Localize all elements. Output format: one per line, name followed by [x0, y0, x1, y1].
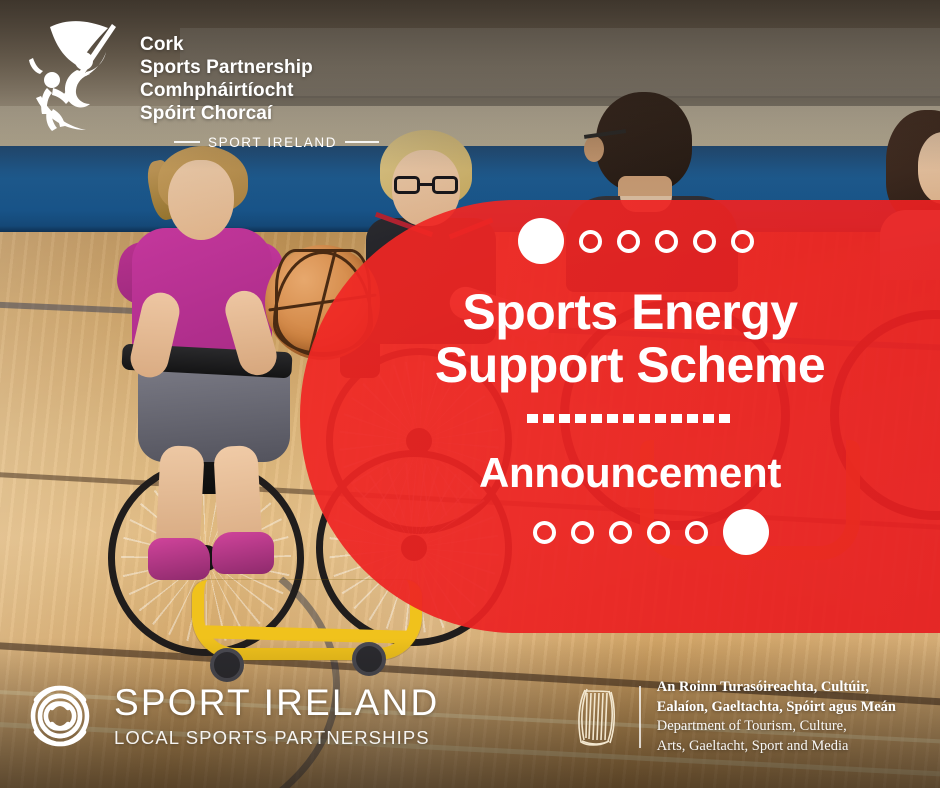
irish-harp-icon [573, 684, 623, 750]
department-text: An Roinn Turasóireachta, Cultúir, Ealaío… [657, 678, 896, 756]
dot-filled-icon [518, 218, 564, 264]
sport-ireland-title: SPORT IRELAND [114, 684, 439, 721]
announcement-subline: Announcement [479, 449, 781, 497]
headline: Sports Energy Support Scheme [435, 286, 825, 392]
dot-row-bottom [491, 509, 769, 555]
sport-ireland-spiral-icon [22, 678, 98, 754]
cork-logo-text: Cork Sports Partnership Comhpháirtíocht … [140, 14, 379, 150]
dot-outline-icon [609, 521, 632, 544]
dot-outline-icon [571, 521, 594, 544]
department-english-line-2: Arts, Gaeltacht, Sport and Media [657, 737, 896, 756]
cork-logo-sport-ireland: SPORT IRELAND [140, 135, 379, 150]
sport-ireland-text: SPORT IRELAND LOCAL SPORTS PARTNERSHIPS [114, 684, 439, 749]
department-divider [639, 686, 641, 748]
department-irish-line-2: Ealaíon, Gaeltachta, Spóirt agus Meán [657, 698, 896, 717]
dot-outline-icon [655, 230, 678, 253]
cork-logo-line: Sports Partnership [140, 57, 379, 80]
sport-ireland-lsp-logo: SPORT IRELAND LOCAL SPORTS PARTNERSHIPS [22, 678, 439, 754]
dot-outline-icon [579, 230, 602, 253]
announcement-content: Sports Energy Support Scheme Announcemen… [300, 200, 940, 633]
cork-sports-partnership-logo: Cork Sports Partnership Comhpháirtíocht … [20, 14, 379, 150]
dot-filled-icon [723, 509, 769, 555]
headline-line-1: Sports Energy [435, 286, 825, 339]
dot-row-top [506, 218, 754, 264]
poster: Sports Energy Support Scheme Announcemen… [0, 0, 940, 788]
headline-line-2: Support Scheme [435, 339, 825, 392]
dot-outline-icon [617, 230, 640, 253]
dot-outline-icon [685, 521, 708, 544]
dot-outline-icon [647, 521, 670, 544]
sport-ireland-subtitle: LOCAL SPORTS PARTNERSHIPS [114, 727, 439, 749]
cork-logo-line: Comhpháirtíocht [140, 80, 379, 103]
cork-sports-partnership-flag-figures-icon [20, 14, 130, 134]
dot-outline-icon [533, 521, 556, 544]
dot-outline-icon [693, 230, 716, 253]
dot-outline-icon [731, 230, 754, 253]
department-english-line-1: Department of Tourism, Culture, [657, 717, 896, 736]
rule-right [345, 141, 379, 143]
cork-logo-sport-ireland-label: SPORT IRELAND [208, 135, 337, 150]
dashed-divider [527, 414, 733, 423]
department-logo: An Roinn Turasóireachta, Cultúir, Ealaío… [573, 678, 896, 756]
department-irish-line-1: An Roinn Turasóireachta, Cultúir, [657, 678, 896, 697]
cork-logo-line: Spóirt Chorcaí [140, 103, 379, 126]
rule-left [174, 141, 200, 143]
cork-logo-line: Cork [140, 34, 379, 57]
